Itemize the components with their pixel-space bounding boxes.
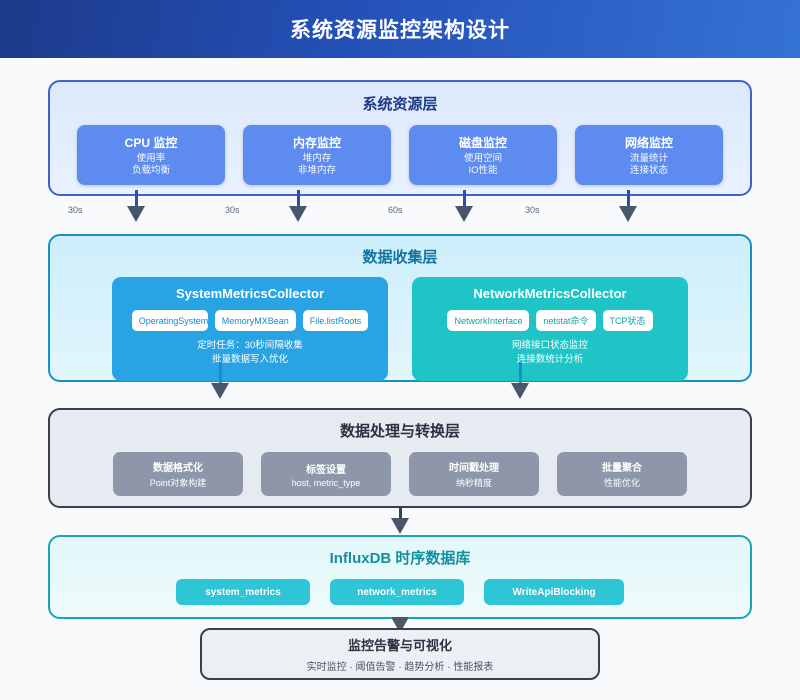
architecture-diagram: 系统资源监控架构设计 系统资源层 CPU 监控 使用率 负载均衡 内存监控 堆内… (0, 0, 800, 700)
alert-layer-subtitle: 实时监控 · 阈值告警 · 趋势分析 · 性能报表 (307, 658, 494, 673)
influx-to-alert-connector (0, 0, 800, 700)
alert-visualization-layer: 监控告警与可视化 实时监控 · 阈值告警 · 趋势分析 · 性能报表 (200, 628, 600, 680)
alert-layer-title: 监控告警与可视化 (348, 635, 452, 654)
